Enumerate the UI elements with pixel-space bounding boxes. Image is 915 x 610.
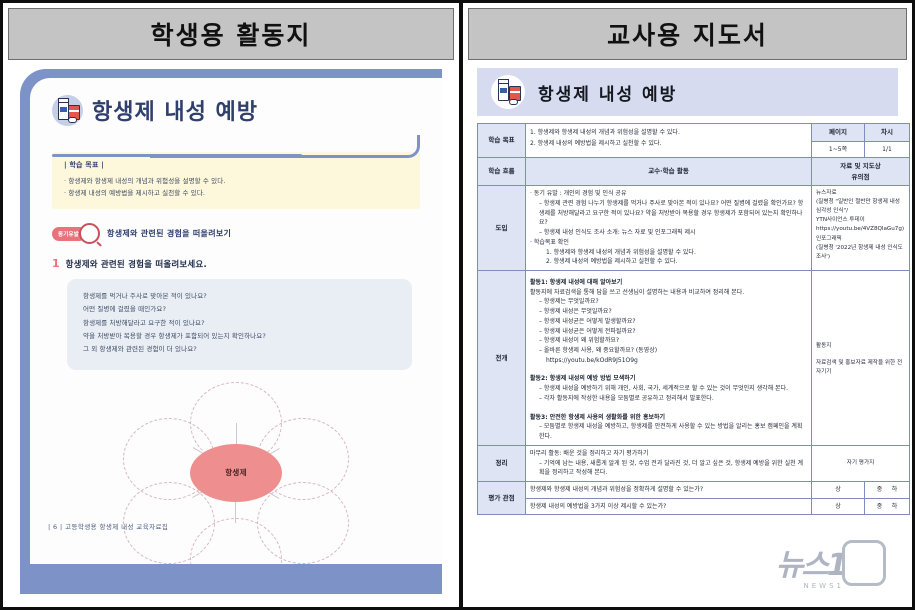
material-line: (질병청 '2022년 항생제 내성 인식도 조사') bbox=[816, 244, 905, 262]
eval-criterion: 항생제와 항생제 내성의 개념과 위험성을 정확하게 설명할 수 있는가? bbox=[526, 481, 812, 498]
page-header: 페이지 bbox=[812, 124, 865, 142]
goal-label: 학습 목표 bbox=[478, 124, 526, 158]
answer-prompt-line: 항생제를 먹거나 주사로 맞아본 적이 있나요? bbox=[83, 290, 396, 303]
worksheet-footer: | 6 | 고등학생용 항생제 내성 교육자료집 bbox=[48, 521, 168, 531]
student-worksheet-panel: 학생용 활동지 항생제 내성 예방 | 학습 목표 | bbox=[0, 0, 461, 610]
activity-line: – 항생제 내성 인식도 조사 소개: 뉴스 자료 및 인포그래픽 제시 bbox=[530, 228, 807, 238]
two-panel-layout: 학생용 활동지 항생제 내성 예방 | 학습 목표 | bbox=[0, 0, 915, 610]
guide-header: 항생제 내성 예방 bbox=[477, 68, 898, 116]
activity-line: – 올바른 항생제 사용, 왜 중요할까요? (동영상) bbox=[530, 346, 807, 356]
activity-header: 교수·학습 활동 bbox=[526, 158, 812, 186]
flow-label-closing: 정리 bbox=[478, 445, 526, 481]
eval-level-mid[interactable]: 중 bbox=[877, 503, 883, 510]
question-row: 1 항생제와 관련된 경험을 떠올려보세요. bbox=[52, 257, 442, 270]
activity-line: – 항생제 내성은 무엇일까요? bbox=[530, 307, 807, 317]
material-cell-intro: 뉴스자료 (질병청 "일반인 절반만 항생제 내성 심각성 인식"/ YTN사이… bbox=[812, 186, 910, 271]
flow-label-intro: 도입 bbox=[478, 186, 526, 271]
screenshot-frame: 학생용 활동지 항생제 내성 예방 | 학습 목표 | bbox=[0, 0, 915, 610]
worksheet-page: 항생제 내성 예방 | 학습 목표 | · 항생제와 항생제 내성의 개념과 위… bbox=[20, 69, 442, 594]
activity-line: · 학습목표 확인 bbox=[530, 238, 807, 248]
material-link[interactable]: https://youtu.be/4VZ8QlaGu7g) bbox=[816, 225, 905, 234]
activity-line: 1. 항생제와 항생제 내성의 개념과 위험성을 설명할 수 있다. bbox=[530, 248, 807, 258]
learning-goal-item: · 항생제 내성의 예방법을 제시하고 실천할 수 있다. bbox=[64, 187, 408, 199]
activity-line: – 항생제 내성균은 어떻게 발생할까요? bbox=[530, 317, 807, 327]
learning-goal-item: · 항생제와 항생제 내성의 개념과 위험성을 설명할 수 있다. bbox=[64, 175, 408, 187]
activity-line: – 항생제 내성을 예방하기 위해 개인, 사회, 국가, 세계적으로 할 수 … bbox=[530, 384, 807, 394]
table-row: 정리 마무리 활동: 배운 것을 정리하고 자기 평가하기 – 기억에 남는 내… bbox=[478, 445, 910, 481]
activity-line: 활동1: 항생제 내성에 대해 알아보기 bbox=[530, 278, 807, 288]
answer-prompt-line: 어떤 질병에 걸렸을 때인가요? bbox=[83, 303, 396, 316]
eval-level-low[interactable]: 하 bbox=[892, 503, 898, 510]
activity-cell-intro: · 동기 유발 : 개인의 경험 및 인식 공유 – 항생제 관련 경험 나누기… bbox=[526, 186, 812, 271]
eval-label: 평가 관점 bbox=[478, 481, 526, 514]
period-value: 1/1 bbox=[865, 141, 910, 158]
title-rule-left bbox=[52, 154, 302, 157]
table-row: 도입 · 동기 유발 : 개인의 경험 및 인식 공유 – 항생제 관련 경험 … bbox=[478, 186, 910, 271]
activity-line: – 항생제 관련 경험 나누기 항생제를 먹거나 주사로 맞아본 적이 있나요?… bbox=[530, 199, 807, 228]
answer-prompt-box[interactable]: 항생제를 먹거나 주사로 맞아본 적이 있나요? 어떤 질병에 걸렸을 때인가요… bbox=[67, 279, 412, 370]
flow-label-develop: 전개 bbox=[478, 271, 526, 446]
activity-line: – 각자 활동지에 작성한 내용을 모둠별로 공유하고 정리해서 발표한다. bbox=[530, 394, 807, 404]
table-row-eval: 항생제 내성의 예방법을 3가지 이상 제시할 수 있는가? 상 중 하 bbox=[478, 498, 910, 515]
goal-cell: 1. 항생제와 항생제 내성의 개념과 위험성을 설명할 수 있다. 2. 항생… bbox=[526, 124, 812, 158]
eval-level-high[interactable]: 상 bbox=[812, 481, 865, 498]
activity-line: – 항생제 내성이 왜 위험할까요? bbox=[530, 336, 807, 346]
teacher-panel-header: 교사용 지도서 bbox=[468, 8, 907, 60]
pill-bottle-icon bbox=[491, 75, 525, 109]
activity-line: 2. 항생제 내성의 예방법을 제시하고 실천할 수 있다. bbox=[530, 257, 807, 267]
table-row-eval: 평가 관점 항생제와 항생제 내성의 개념과 위험성을 정확하게 설명할 수 있… bbox=[478, 481, 910, 498]
table-row: 전개 활동1: 항생제 내성에 대해 알아보기 활동지에 자료검색을 통해 답을… bbox=[478, 271, 910, 446]
activity-line: · 동기 유발 : 개인의 경험 및 인식 공유 bbox=[530, 189, 807, 199]
guide-title: 항생제 내성 예방 bbox=[538, 80, 677, 105]
teacher-guide-panel: 교사용 지도서 항생제 내성 예방 학습 목표 bbox=[461, 0, 915, 610]
guide-page: 항생제 내성 예방 학습 목표 1. 항생제와 항생제 내성의 개념과 위험성을… bbox=[477, 68, 898, 596]
eval-level-high[interactable]: 상 bbox=[812, 498, 865, 515]
material-cell-closing: 자기 평가지 bbox=[812, 445, 910, 481]
activity-line: – 항생제는 무엇일까요? bbox=[530, 297, 807, 307]
watermark-text: 뉴스1 bbox=[776, 540, 846, 584]
answer-prompt-line: 항생제를 처방해달라고 요구한 적이 있나요? bbox=[83, 317, 396, 330]
flow-header: 학습 흐름 bbox=[478, 158, 526, 186]
learning-goal-box: | 학습 목표 | · 항생제와 항생제 내성의 개념과 위험성을 설명할 수 … bbox=[52, 152, 420, 209]
magnifier-icon bbox=[79, 223, 100, 244]
motivation-header-row: 동기유발 항생제와 관련된 경험을 떠올려보기 bbox=[52, 223, 442, 244]
activity-line: 마무리 활동: 배운 것을 정리하고 자기 평가하기 bbox=[530, 449, 807, 459]
watermark-badge bbox=[842, 540, 886, 586]
pill-bottle-icon bbox=[52, 95, 83, 126]
material-line: 뉴스자료 bbox=[816, 189, 905, 198]
worksheet-inner: 항생제 내성 예방 | 학습 목표 | · 항생제와 항생제 내성의 개념과 위… bbox=[30, 78, 442, 564]
activity-video-link[interactable]: https://youtu.be/kOdR9J51O9g bbox=[530, 356, 807, 366]
answer-prompt-line: 약을 처방받아 복용할 경우 항생제가 포함되어 있는지 확인하나요? bbox=[83, 330, 396, 343]
page-value: 1~5쪽 bbox=[812, 141, 865, 158]
activity-line: 활동2: 항생제 내성의 예방 방법 모색하기 bbox=[530, 374, 807, 384]
learning-goal-heading: | 학습 목표 | bbox=[64, 160, 408, 170]
eval-criterion: 항생제 내성의 예방법을 3가지 이상 제시할 수 있는가? bbox=[526, 498, 812, 515]
material-line: 자료검색 및 홍보자료 제작을 위한 전자기기 bbox=[816, 359, 905, 377]
activity-cell-closing: 마무리 활동: 배운 것을 정리하고 자기 평가하기 – 기억에 남는 내용, … bbox=[526, 445, 812, 481]
eval-level-low[interactable]: 하 bbox=[892, 486, 898, 493]
watermark-subtext: NEWS1 bbox=[804, 582, 844, 590]
period-header: 차시 bbox=[865, 124, 910, 142]
eval-level-mid[interactable]: 중 bbox=[877, 486, 883, 493]
table-row-goals: 학습 목표 1. 항생제와 항생제 내성의 개념과 위험성을 설명할 수 있다.… bbox=[478, 124, 910, 142]
activity-line: 활동3: 안전한 항생제 사용의 생활화를 위한 홍보하기 bbox=[530, 413, 807, 423]
answer-prompt-line: 그 외 항생제와 관련된 경험이 더 있나요? bbox=[83, 343, 396, 356]
news-watermark: 뉴스1 NEWS1 bbox=[722, 530, 892, 592]
worksheet-footer-bar bbox=[20, 564, 442, 594]
student-panel-header: 학생용 활동지 bbox=[8, 8, 454, 60]
activity-cell-develop: 활동1: 항생제 내성에 대해 알아보기 활동지에 자료검색을 통해 답을 쓰고… bbox=[526, 271, 812, 446]
material-line: (질병청 "일반인 절반만 항생제 내성 심각성 인식"/ bbox=[816, 198, 905, 216]
material-line: YTN사이언스 투데이 bbox=[816, 216, 905, 225]
eval-level-mid-low[interactable]: 중 하 bbox=[865, 481, 910, 498]
material-cell-develop: 활동지 자료검색 및 홍보자료 제작을 위한 전자기기 bbox=[812, 271, 910, 446]
activity-line: – 항생제 내성균은 어떻게 전파될까요? bbox=[530, 327, 807, 337]
material-line: 활동지 bbox=[816, 342, 905, 351]
worksheet-title: 항생제 내성 예방 bbox=[92, 94, 258, 126]
lesson-plan-table: 학습 목표 1. 항생제와 항생제 내성의 개념과 위험성을 설명할 수 있다.… bbox=[477, 123, 910, 515]
material-header: 자료 및 지도상 유의점 bbox=[812, 158, 910, 186]
activity-line: 활동지에 자료검색을 통해 답을 쓰고 선생님이 설명하는 내용과 비교하여 정… bbox=[530, 288, 807, 298]
table-row-column-headers: 학습 흐름 교수·학습 활동 자료 및 지도상 유의점 bbox=[478, 158, 910, 186]
goal-item: 1. 항생제와 항생제 내성의 개념과 위험성을 설명할 수 있다. bbox=[530, 128, 807, 138]
question-title: 항생제와 관련된 경험을 떠올려보세요. bbox=[66, 258, 207, 270]
goal-item: 2. 항생제 내성의 예방법을 제시하고 실천할 수 있다. bbox=[530, 139, 807, 149]
mindmap-center-node: 항생제 bbox=[190, 444, 282, 502]
question-number: 1 bbox=[52, 257, 60, 270]
mindmap-diagram: 항생제 bbox=[111, 382, 361, 564]
activity-line: – 모둠별로 항생제 내성을 예방하고, 항생제를 안전하게 사용할 수 있는 … bbox=[530, 422, 807, 441]
material-line: 인포그래픽 bbox=[816, 235, 905, 244]
student-panel-body: 항생제 내성 예방 | 학습 목표 | · 항생제와 항생제 내성의 개념과 위… bbox=[8, 69, 454, 594]
worksheet-title-row: 항생제 내성 예방 bbox=[30, 78, 442, 126]
activity-line: – 기억에 남는 내용, 새롭게 알게 된 것, 수업 전과 달라진 것, 더 … bbox=[530, 459, 807, 478]
motivation-title: 항생제와 관련된 경험을 떠올려보기 bbox=[107, 228, 231, 239]
eval-level-mid-low[interactable]: 중 하 bbox=[865, 498, 910, 515]
